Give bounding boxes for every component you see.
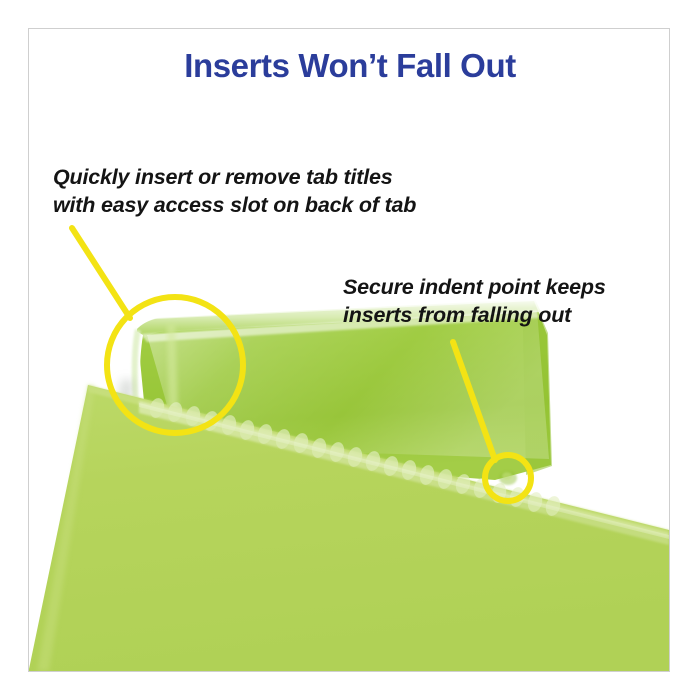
- callout-left-line-1: Quickly insert or remove tab titles: [53, 163, 416, 191]
- product-photo: [29, 29, 669, 671]
- callout-left: Quickly insert or remove tab titles with…: [53, 163, 416, 219]
- callout-left-line-2: with easy access slot on back of tab: [53, 191, 416, 219]
- product-feature-image: Inserts Won’t Fall Out Quickly insert or…: [0, 0, 700, 700]
- callout-right-line-2: inserts from falling out: [343, 301, 606, 329]
- product-illustration: [29, 29, 669, 671]
- callout-right: Secure indent point keeps inserts from f…: [343, 273, 606, 329]
- secure-indent-point: [499, 471, 517, 485]
- page-title: Inserts Won’t Fall Out: [0, 47, 700, 85]
- callout-right-line-1: Secure indent point keeps: [343, 273, 606, 301]
